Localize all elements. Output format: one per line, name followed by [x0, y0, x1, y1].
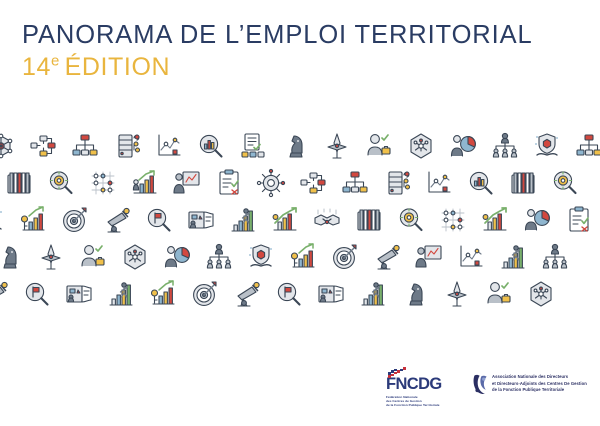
- gear-magnifier-icon: [40, 168, 82, 206]
- growth-arrow-chart-icon: [474, 205, 516, 243]
- icon-pattern-row: [0, 205, 600, 243]
- telescope-icon: [366, 242, 408, 280]
- presentation-chart-icon: [156, 242, 198, 280]
- scatter-grid-icon: [432, 205, 474, 243]
- page-title: PANORAMA DE L’EMPLOI TERRITORIAL: [22, 22, 582, 49]
- org-chart-icon: [568, 131, 600, 169]
- blueprint-icon: [180, 205, 222, 243]
- clipboard-check-icon: [208, 168, 250, 206]
- handshake-icon: [306, 205, 348, 243]
- person-climbing-chart-icon: [492, 242, 534, 280]
- target-dart-icon: [324, 242, 366, 280]
- icon-pattern-row: [0, 242, 600, 280]
- person-check-icon: [478, 279, 520, 316]
- flowchart-icon: [22, 131, 64, 169]
- icon-pattern-row: [0, 131, 600, 169]
- andcdg-name-line: de la Fonction Publique Territoriale: [492, 387, 587, 394]
- line-chart-icon: [148, 131, 190, 169]
- icon-pattern-band: [0, 131, 600, 316]
- hierarchy-people-icon: [484, 131, 526, 169]
- chess-knight-icon: [0, 242, 30, 280]
- line-chart-icon: [418, 168, 460, 206]
- flowchart-icon: [292, 168, 334, 206]
- gear-magnifier-icon: [390, 205, 432, 243]
- compass-rose-icon: [316, 131, 358, 169]
- fncdg-wordmark: FNCDG: [386, 376, 458, 393]
- cube-network-icon: [520, 279, 562, 316]
- edition-number: 14: [22, 53, 51, 81]
- org-chart-icon: [64, 131, 106, 169]
- shield-hand-icon: [0, 205, 12, 243]
- title-block: PANORAMA DE L’EMPLOI TERRITORIAL 14eÉDIT…: [22, 22, 582, 80]
- icon-pattern-row: [0, 168, 600, 206]
- key-bar-chart-icon: [282, 242, 324, 280]
- line-chart-icon: [450, 242, 492, 280]
- person-presentation-icon: [408, 242, 450, 280]
- fncdg-subtitle-line: de la Fonction Publique Territoriale: [386, 403, 456, 407]
- andcdg-name: Association Nationale des Directeurs et …: [492, 374, 587, 394]
- magnifier-flag-icon: [138, 205, 180, 243]
- bar-chart-magnifier-icon: [190, 131, 232, 169]
- target-dart-icon: [184, 279, 226, 316]
- file-folders-icon: [502, 168, 544, 206]
- cube-network-icon: [114, 242, 156, 280]
- presentation-chart-icon: [442, 131, 484, 169]
- target-dart-icon: [54, 205, 96, 243]
- bar-chart-magnifier-icon: [460, 168, 502, 206]
- key-bar-chart-icon: [142, 279, 184, 316]
- edition-ordinal: e: [51, 52, 60, 69]
- person-climbing-chart-icon: [100, 279, 142, 316]
- person-check-icon: [72, 242, 114, 280]
- file-folders-icon: [348, 205, 390, 243]
- shield-hand-icon: [526, 131, 568, 169]
- shield-hand-icon: [240, 242, 282, 280]
- growth-arrow-chart-icon: [264, 205, 306, 243]
- cover-page: PANORAMA DE L’EMPLOI TERRITORIAL 14eÉDIT…: [0, 0, 600, 426]
- hierarchy-people-icon: [534, 242, 576, 280]
- blueprint-icon: [58, 279, 100, 316]
- fncdg-subtitle: Fédération Nationale des Centres de Gest…: [386, 395, 456, 408]
- andcdg-swoosh-icon: [472, 373, 489, 395]
- gear-magnifier-icon: [544, 168, 586, 206]
- compass-rose-icon: [30, 242, 72, 280]
- chess-knight-icon: [274, 131, 316, 169]
- magnifier-flag-icon: [268, 279, 310, 316]
- person-check-icon: [358, 131, 400, 169]
- edition-subtitle: 14eÉDITION: [22, 54, 582, 80]
- magnifier-flag-icon: [16, 279, 58, 316]
- person-climbing-chart-icon: [222, 205, 264, 243]
- andcdg-logo: Association Nationale des Directeurs et …: [472, 373, 592, 395]
- growth-people-chart-icon: [124, 168, 166, 206]
- gear-network-icon: [250, 168, 292, 206]
- telescope-icon: [96, 205, 138, 243]
- blueprint-icon: [310, 279, 352, 316]
- person-climbing-chart-icon: [352, 279, 394, 316]
- key-bar-chart-icon: [12, 205, 54, 243]
- org-chart-icon: [334, 168, 376, 206]
- file-folders-icon: [0, 168, 40, 206]
- person-presentation-icon: [166, 168, 208, 206]
- fncdg-logo: FNCDG Fédération Nationale des Centres d…: [386, 367, 458, 408]
- scatter-grid-icon: [82, 168, 124, 206]
- telescope-icon: [226, 279, 268, 316]
- presentation-chart-icon: [516, 205, 558, 243]
- chess-knight-icon: [394, 279, 436, 316]
- network-nodes-icon: [0, 131, 22, 169]
- compass-rose-icon: [436, 279, 478, 316]
- server-rack-icon: [106, 131, 148, 169]
- cube-network-icon: [400, 131, 442, 169]
- checklist-document-icon: [232, 131, 274, 169]
- clipboard-check-icon: [558, 205, 600, 243]
- icon-pattern-row: [0, 279, 600, 316]
- edition-word: ÉDITION: [65, 53, 171, 81]
- fncdg-accent-dots-icon: [388, 367, 414, 377]
- server-rack-icon: [376, 168, 418, 206]
- footer-logos: FNCDG Fédération Nationale des Centres d…: [386, 367, 592, 411]
- hierarchy-people-icon: [198, 242, 240, 280]
- telescope-icon: [0, 279, 16, 316]
